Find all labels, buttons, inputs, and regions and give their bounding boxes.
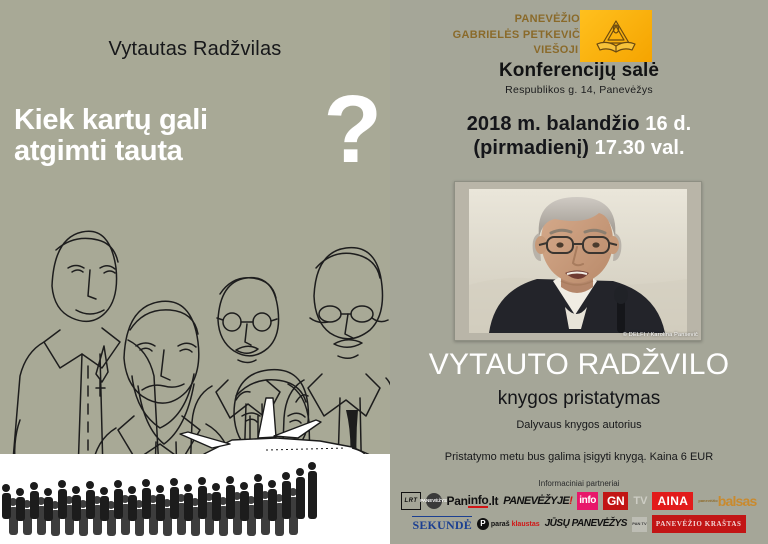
parasklaustas-mark-icon: P [477, 518, 489, 530]
panevezio-krastas-logo[interactable]: PANEVĖŽIO KRAŠTAS [652, 515, 746, 533]
hall-address: Respublikos g. 14, Panevėžys [390, 84, 768, 96]
parasklaustas-part-1: paraš [491, 521, 510, 528]
panevezyje-text: PANEVĖŽYJE [503, 496, 569, 507]
square-media-logo[interactable]: PAN TV [632, 517, 647, 532]
paninfo-part-2: info [468, 494, 489, 508]
balsas-text: balsas [718, 494, 757, 508]
panevezys-seal-logo[interactable]: PANEVĖŽYS [426, 493, 442, 509]
event-time-line: (pirmadienį) 17.30 val. [390, 136, 768, 160]
parasklaustas-part-2: klaustas [512, 521, 540, 528]
event-datetime: 2018 m. balandžio 16 d. (pirmadienį) 17.… [390, 112, 768, 161]
gn-logo[interactable]: GN [603, 492, 628, 510]
paninfo-part-1: Pan [447, 495, 468, 507]
event-subtitle: knygos pristatymas [390, 388, 768, 410]
question-mark-glyph: ? [323, 82, 382, 178]
aina-logo[interactable]: AINA [652, 492, 693, 510]
photo-content [469, 189, 687, 333]
event-day: 16 d. [645, 113, 691, 135]
crowd-illustration [0, 454, 390, 544]
book-cover-image: Vytautas Radžvilas Kiek kartų gali atgim… [0, 0, 390, 544]
event-date-line: 2018 m. balandžio 16 d. [390, 112, 768, 136]
partners-row-2: SEKUNDĖ Pparašklaustas JŪSŲ PANEVĖŽYS PA… [390, 514, 768, 534]
paninfo-part-3: .lt [488, 495, 498, 507]
book-title: Kiek kartų gali atgimti tauta [14, 105, 344, 168]
poster-right-panel: PANEVĖŽIO APSKRITIES GABRIELĖS PETKEVIČA… [390, 0, 768, 544]
event-price-note: Pristatymo metu bus galima įsigyti knygą… [390, 451, 768, 463]
book-author-name: Vytautas Radžvilas [0, 38, 390, 61]
event-date-prefix: 2018 m. balandžio [467, 113, 646, 135]
book-title-line-2: atgimti tauta [14, 136, 344, 167]
partners-row-1: LRT PANEVĖŽYS Paninfo.lt PANEVĖŽYJE! inf… [390, 491, 768, 511]
event-note: Dalyvaus knygos autorius [390, 419, 768, 431]
photo-credit: © DELFI / Karolina Pansevič [623, 332, 698, 338]
partners-heading: Informaciniai partneriai [390, 479, 768, 488]
tv-logo[interactable]: TV [633, 493, 647, 509]
event-title: VYTAUTO RADŽVILO [390, 348, 768, 382]
book-title-line-1: Kiek kartų gali [14, 104, 208, 136]
parasklaustas-logo[interactable]: Pparašklaustas [477, 516, 540, 532]
info-logo[interactable]: info [577, 492, 598, 510]
event-time: 17.30 val. [595, 137, 685, 159]
panevezyje-exclam: ! [569, 496, 572, 507]
event-poster: Vytautas Radžvilas Kiek kartų gali atgim… [0, 0, 768, 544]
library-book-emblem-icon [580, 10, 652, 62]
library-header: PANEVĖŽIO APSKRITIES GABRIELĖS PETKEVIČA… [390, 12, 768, 58]
balsas-superscript: panevėžio [698, 499, 717, 503]
balsas-logo[interactable]: panevėžiobalsas [698, 493, 756, 509]
paninfo-logo[interactable]: Paninfo.lt [447, 493, 499, 509]
panevezyje-logo[interactable]: PANEVĖŽYJE! [503, 493, 572, 509]
hall-name: Konferencijų salė [390, 60, 768, 82]
jusu-panevezys-logo[interactable]: JŪSŲ PANEVĖŽYS [545, 516, 627, 532]
speaker-photo: © DELFI / Karolina Pansevič [454, 181, 702, 341]
event-weekday: (pirmadienį) [473, 137, 594, 159]
sekunde-logo[interactable]: SEKUNDĖ [412, 516, 471, 533]
lrt-logo[interactable]: LRT [401, 492, 420, 510]
